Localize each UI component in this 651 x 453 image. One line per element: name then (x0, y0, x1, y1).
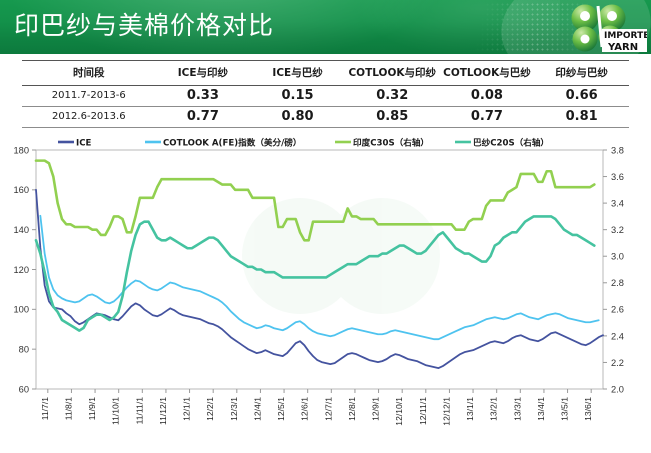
x-axis-label: 12/8/1 (347, 397, 357, 421)
x-axis-label: 11/12/1 (158, 397, 168, 425)
legend-label: 巴纱C20S（右轴） (473, 136, 549, 148)
slide-header: 印巴纱与美棉价格对比 IMPORTED YARN (0, 0, 651, 54)
x-axis-label: 13/3/1 (512, 397, 522, 421)
table-cell-value: 0.77 (440, 107, 535, 128)
y-axis-label: 80 (19, 345, 29, 355)
x-axis-label: 12/4/1 (252, 397, 262, 421)
legend-item-2: 印度C30S（右轴） (335, 136, 429, 148)
table-column-header-2: ICE与巴纱 (250, 61, 345, 86)
x-axis-label: 12/12/1 (441, 397, 451, 426)
legend-label: 印度C30S（右轴） (353, 136, 429, 148)
logo-line2: YARN (607, 42, 638, 53)
y2-axis-label: 2.6 (611, 305, 624, 315)
x-axis-label: 13/4/1 (536, 397, 546, 421)
table-cell-period: 2011.7-2013-6 (22, 86, 156, 107)
x-axis-label: 12/11/1 (418, 397, 428, 425)
y2-axis-label: 2.4 (611, 331, 624, 341)
y-axis-label: 100 (13, 305, 29, 315)
imported-yarn-logo: IMPORTED YARN (555, 1, 647, 53)
y-axis-label: 160 (13, 185, 29, 195)
plot-watermark (242, 198, 440, 314)
logo-wordmark: IMPORTED YARN (602, 29, 647, 53)
table-row: 2011.7-2013-60.330.150.320.080.66 (22, 86, 629, 107)
table-body: 2011.7-2013-60.330.150.320.080.662012.6-… (22, 86, 629, 128)
legend-item-1: COTLOOK A(FE)指数（美分/磅） (145, 136, 301, 148)
y2-axis-label: 3.0 (611, 252, 624, 262)
table-header-row: 时间段ICE与印纱ICE与巴纱COTLOOK与印纱COTLOOK与巴纱印纱与巴纱 (22, 61, 629, 86)
x-axis-label: 12/2/1 (205, 397, 215, 421)
x-axis-label: 11/7/1 (40, 397, 50, 420)
y2-axis-label: 3.2 (611, 225, 624, 235)
y2-axis-label: 3.8 (611, 145, 624, 155)
table-row: 2012.6-2013.60.770.800.850.770.81 (22, 107, 629, 128)
y-axis-label: 140 (13, 225, 29, 235)
x-axis-label: 12/7/1 (323, 397, 333, 421)
table-cell-value: 0.15 (250, 86, 345, 107)
x-axis-label: 11/10/1 (111, 397, 121, 425)
table-column-header-4: COTLOOK与巴纱 (440, 61, 535, 86)
table-column-header-3: COTLOOK与印纱 (345, 61, 440, 86)
table-column-header-1: ICE与印纱 (156, 61, 251, 86)
x-axis-label: 13/6/1 (583, 397, 593, 421)
x-axis-label: 12/3/1 (229, 397, 239, 421)
y2-axis-label: 3.6 (611, 172, 624, 182)
price-comparison-chart: ICECOTLOOK A(FE)指数（美分/磅）印度C30S（右轴）巴纱C20S… (0, 136, 651, 453)
table-cell-value: 0.80 (250, 107, 345, 128)
y2-axis-label: 2.2 (611, 358, 624, 368)
table-cell-value: 0.66 (534, 86, 629, 107)
y2-axis-label: 2.0 (611, 384, 624, 394)
x-axis-label: 13/2/1 (489, 397, 499, 421)
y2-axis-label: 3.4 (611, 199, 624, 209)
y-axis-label: 180 (13, 145, 29, 155)
table-cell-value: 0.08 (440, 86, 535, 107)
table-cell-value: 0.85 (345, 107, 440, 128)
legend-item-3: 巴纱C20S（右轴） (455, 136, 549, 148)
table-cell-value: 0.81 (534, 107, 629, 128)
x-axis-label: 13/5/1 (560, 397, 570, 421)
y-axis-label: 60 (19, 384, 29, 394)
x-axis-label: 13/1/1 (465, 397, 475, 421)
legend-item-0: ICE (58, 138, 92, 148)
table-column-header-5: 印纱与巴纱 (534, 61, 629, 86)
table-column-header-0: 时间段 (22, 61, 156, 86)
table-cell-period: 2012.6-2013.6 (22, 107, 156, 128)
logo-line1: IMPORTED (604, 31, 647, 41)
table-cell-value: 0.77 (156, 107, 251, 128)
x-axis-label: 11/11/1 (134, 397, 144, 425)
x-axis-label: 12/10/1 (394, 397, 404, 426)
y-axis-label: 120 (13, 265, 29, 275)
x-axis-label: 12/5/1 (276, 397, 286, 421)
y2-axis-label: 2.8 (611, 278, 624, 288)
x-axis-label: 11/9/1 (87, 397, 97, 420)
table-cell-value: 0.33 (156, 86, 251, 107)
x-axis-label: 12/6/1 (300, 397, 310, 421)
x-axis-label: 11/8/1 (63, 397, 73, 420)
x-axis-label: 12/9/1 (371, 397, 381, 421)
correlation-table: 时间段ICE与印纱ICE与巴纱COTLOOK与印纱COTLOOK与巴纱印纱与巴纱… (22, 60, 629, 128)
x-axis-label: 12/1/1 (182, 397, 192, 421)
legend-label: ICE (76, 138, 92, 148)
page-title: 印巴纱与美棉价格对比 (14, 5, 274, 47)
legend-label: COTLOOK A(FE)指数（美分/磅） (163, 136, 301, 148)
table-cell-value: 0.32 (345, 86, 440, 107)
